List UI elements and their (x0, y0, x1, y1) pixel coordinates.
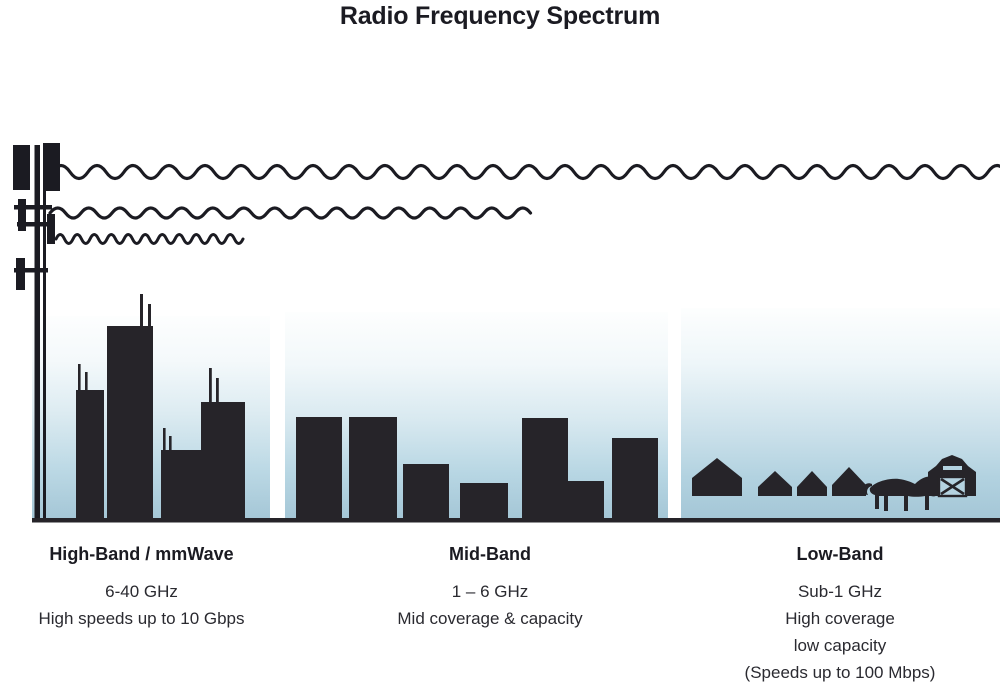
band-heading-high-band: High-Band / mmWave (0, 543, 283, 565)
medium-wavelength-wave (50, 208, 531, 218)
band-heading-low-band: Low-Band (680, 543, 1000, 565)
building (201, 402, 245, 520)
building (612, 438, 658, 520)
band-detail-low-band: Sub-1 GHz High coverage low capacity (Sp… (680, 578, 1000, 686)
ground-line (32, 518, 1000, 523)
band-detail-line: High coverage (680, 605, 1000, 632)
band-detail-high-band: 6-40 GHz High speeds up to 10 Gbps (0, 578, 283, 632)
building (403, 464, 449, 520)
band-detail-line: High speeds up to 10 Gbps (0, 605, 283, 632)
band-detail-line: 1 – 6 GHz (330, 578, 650, 605)
infographic-canvas: Radio Frequency Spectrum (0, 0, 1000, 700)
building (568, 481, 604, 520)
band-detail-mid-band: 1 – 6 GHz Mid coverage & capacity (330, 578, 650, 632)
band-column-low-band: Low-Band Sub-1 GHz High coverage low cap… (680, 543, 1000, 686)
spectrum-scene (0, 0, 1000, 545)
band-detail-line: (Speeds up to 100 Mbps) (680, 659, 1000, 686)
band-heading-mid-band: Mid-Band (330, 543, 650, 565)
band-column-high-band: High-Band / mmWave 6-40 GHz High speeds … (0, 543, 283, 632)
building (349, 417, 397, 520)
band-detail-line: 6-40 GHz (0, 578, 283, 605)
building (522, 418, 568, 520)
band-column-mid-band: Mid-Band 1 – 6 GHz Mid coverage & capaci… (330, 543, 650, 632)
building (107, 326, 153, 520)
band-detail-line: low capacity (680, 632, 1000, 659)
building (161, 450, 201, 520)
building (76, 390, 104, 520)
band-detail-line: Sub-1 GHz (680, 578, 1000, 605)
band-captions: High-Band / mmWave 6-40 GHz High speeds … (0, 543, 1000, 700)
building (296, 417, 342, 520)
building (460, 483, 508, 520)
band-detail-line: Mid coverage & capacity (330, 605, 650, 632)
long-wavelength-wave (52, 166, 1000, 179)
short-wavelength-wave (56, 235, 243, 244)
